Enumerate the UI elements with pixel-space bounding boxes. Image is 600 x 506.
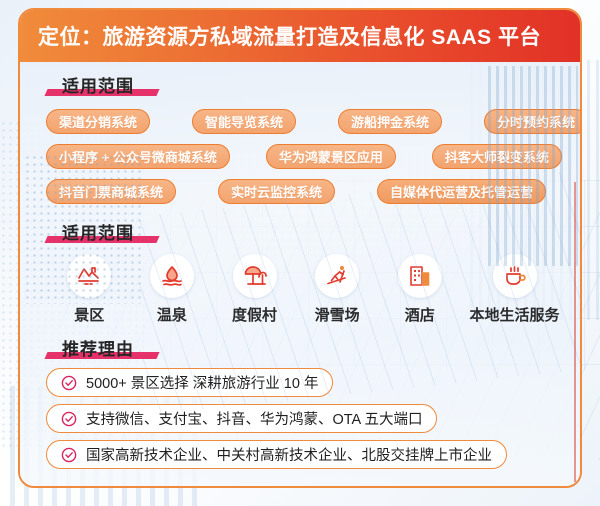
scope-item-label: 温泉 [157, 304, 187, 325]
card-body: 适用范围 渠道分销系统 智能导览系统 游船押金系统 分时预约系统 小程序 + 公… [20, 62, 580, 486]
reason-text: 5000+ 景区选择 深耕旅游行业 10 年 [86, 372, 318, 393]
product-pill[interactable]: 抖客大师裂变系统 [432, 144, 562, 169]
scope-item-hotel[interactable]: 酒店 [378, 254, 461, 325]
product-pill-row: 小程序 + 公众号微商城系统 华为鸿蒙景区应用 抖客大师裂变系统 [32, 141, 568, 171]
scope-item-hotspring[interactable]: 温泉 [131, 254, 214, 325]
reason-item[interactable]: 国家高新技术企业、中关村高新技术企业、北股交挂牌上市企业 [46, 440, 507, 469]
parasol-icon [233, 254, 277, 298]
product-pill-row: 渠道分销系统 智能导览系统 游船押金系统 分时预约系统 [32, 106, 568, 136]
hot-spring-icon [150, 254, 194, 298]
section-heading-reasons: 推荐理由 [50, 335, 144, 360]
reason-item[interactable]: 5000+ 景区选择 深耕旅游行业 10 年 [46, 368, 333, 397]
check-circle-icon [61, 447, 77, 463]
mountain-icon [67, 254, 111, 298]
product-pill-rows: 渠道分销系统 智能导览系统 游船押金系统 分时预约系统 小程序 + 公众号微商城… [32, 106, 568, 206]
poster-page: 定位：旅游资源方私域流量打造及信息化 SAAS 平台 适用范围 渠道分销系统 [0, 0, 600, 506]
reasons-section-header: 推荐理由 [32, 325, 568, 360]
reason-list: 5000+ 景区选择 深耕旅游行业 10 年 支持微信、支付宝、抖音、华为鸿蒙、… [32, 368, 568, 469]
product-pill[interactable]: 游船押金系统 [338, 109, 442, 134]
product-pill[interactable]: 渠道分销系统 [46, 109, 150, 134]
product-pill[interactable]: 小程序 + 公众号微商城系统 [46, 144, 230, 169]
section-heading-text: 推荐理由 [62, 340, 134, 359]
scope-item-label: 酒店 [405, 304, 435, 325]
product-pill[interactable]: 自媒体代运营及托管运营 [377, 179, 546, 204]
reason-text: 国家高新技术企业、中关村高新技术企业、北股交挂牌上市企业 [86, 444, 492, 465]
product-pill-row: 抖音门票商城系统 实时云监控系统 自媒体代运营及托管运营 [32, 176, 568, 206]
scope-item-scenic[interactable]: 景区 [48, 254, 131, 325]
product-pill[interactable]: 分时预约系统 [484, 109, 582, 134]
skier-icon [315, 254, 359, 298]
scope-item-label: 滑雪场 [315, 304, 360, 325]
product-pill[interactable]: 智能导览系统 [192, 109, 296, 134]
section-heading-products: 适用范围 [50, 72, 144, 97]
products-section-header: 适用范围 [32, 62, 568, 97]
card-header: 定位：旅游资源方私域流量打造及信息化 SAAS 平台 [20, 10, 580, 62]
scope-item-label: 度假村 [232, 304, 277, 325]
scope-section-header: 适用范围 [32, 211, 568, 244]
check-circle-icon [61, 375, 77, 391]
section-heading-text: 适用范围 [62, 224, 134, 243]
product-pill[interactable]: 抖音门票商城系统 [46, 179, 176, 204]
product-pill[interactable]: 华为鸿蒙景区应用 [266, 144, 396, 169]
main-card: 定位：旅游资源方私域流量打造及信息化 SAAS 平台 适用范围 渠道分销系统 [18, 8, 582, 488]
scope-item-ski[interactable]: 滑雪场 [296, 254, 379, 325]
scope-item-resort[interactable]: 度假村 [213, 254, 296, 325]
reason-text: 支持微信、支付宝、抖音、华为鸿蒙、OTA 五大端口 [86, 408, 422, 429]
section-heading-text: 适用范围 [62, 77, 134, 96]
building-icon [398, 254, 442, 298]
scope-item-local-life[interactable]: 本地生活服务 [461, 254, 568, 325]
product-pill[interactable]: 实时云监控系统 [218, 179, 335, 204]
section-heading-scope: 适用范围 [50, 219, 144, 244]
coffee-cup-icon [493, 254, 537, 298]
page-title: 定位：旅游资源方私域流量打造及信息化 SAAS 平台 [38, 21, 541, 51]
scope-item-label: 本地生活服务 [470, 304, 560, 325]
scope-icons-row: 景区 温泉 [32, 254, 568, 325]
scope-item-label: 景区 [74, 304, 104, 325]
reason-item[interactable]: 支持微信、支付宝、抖音、华为鸿蒙、OTA 五大端口 [46, 404, 437, 433]
check-circle-icon [61, 411, 77, 427]
background-red-rule [574, 182, 576, 482]
